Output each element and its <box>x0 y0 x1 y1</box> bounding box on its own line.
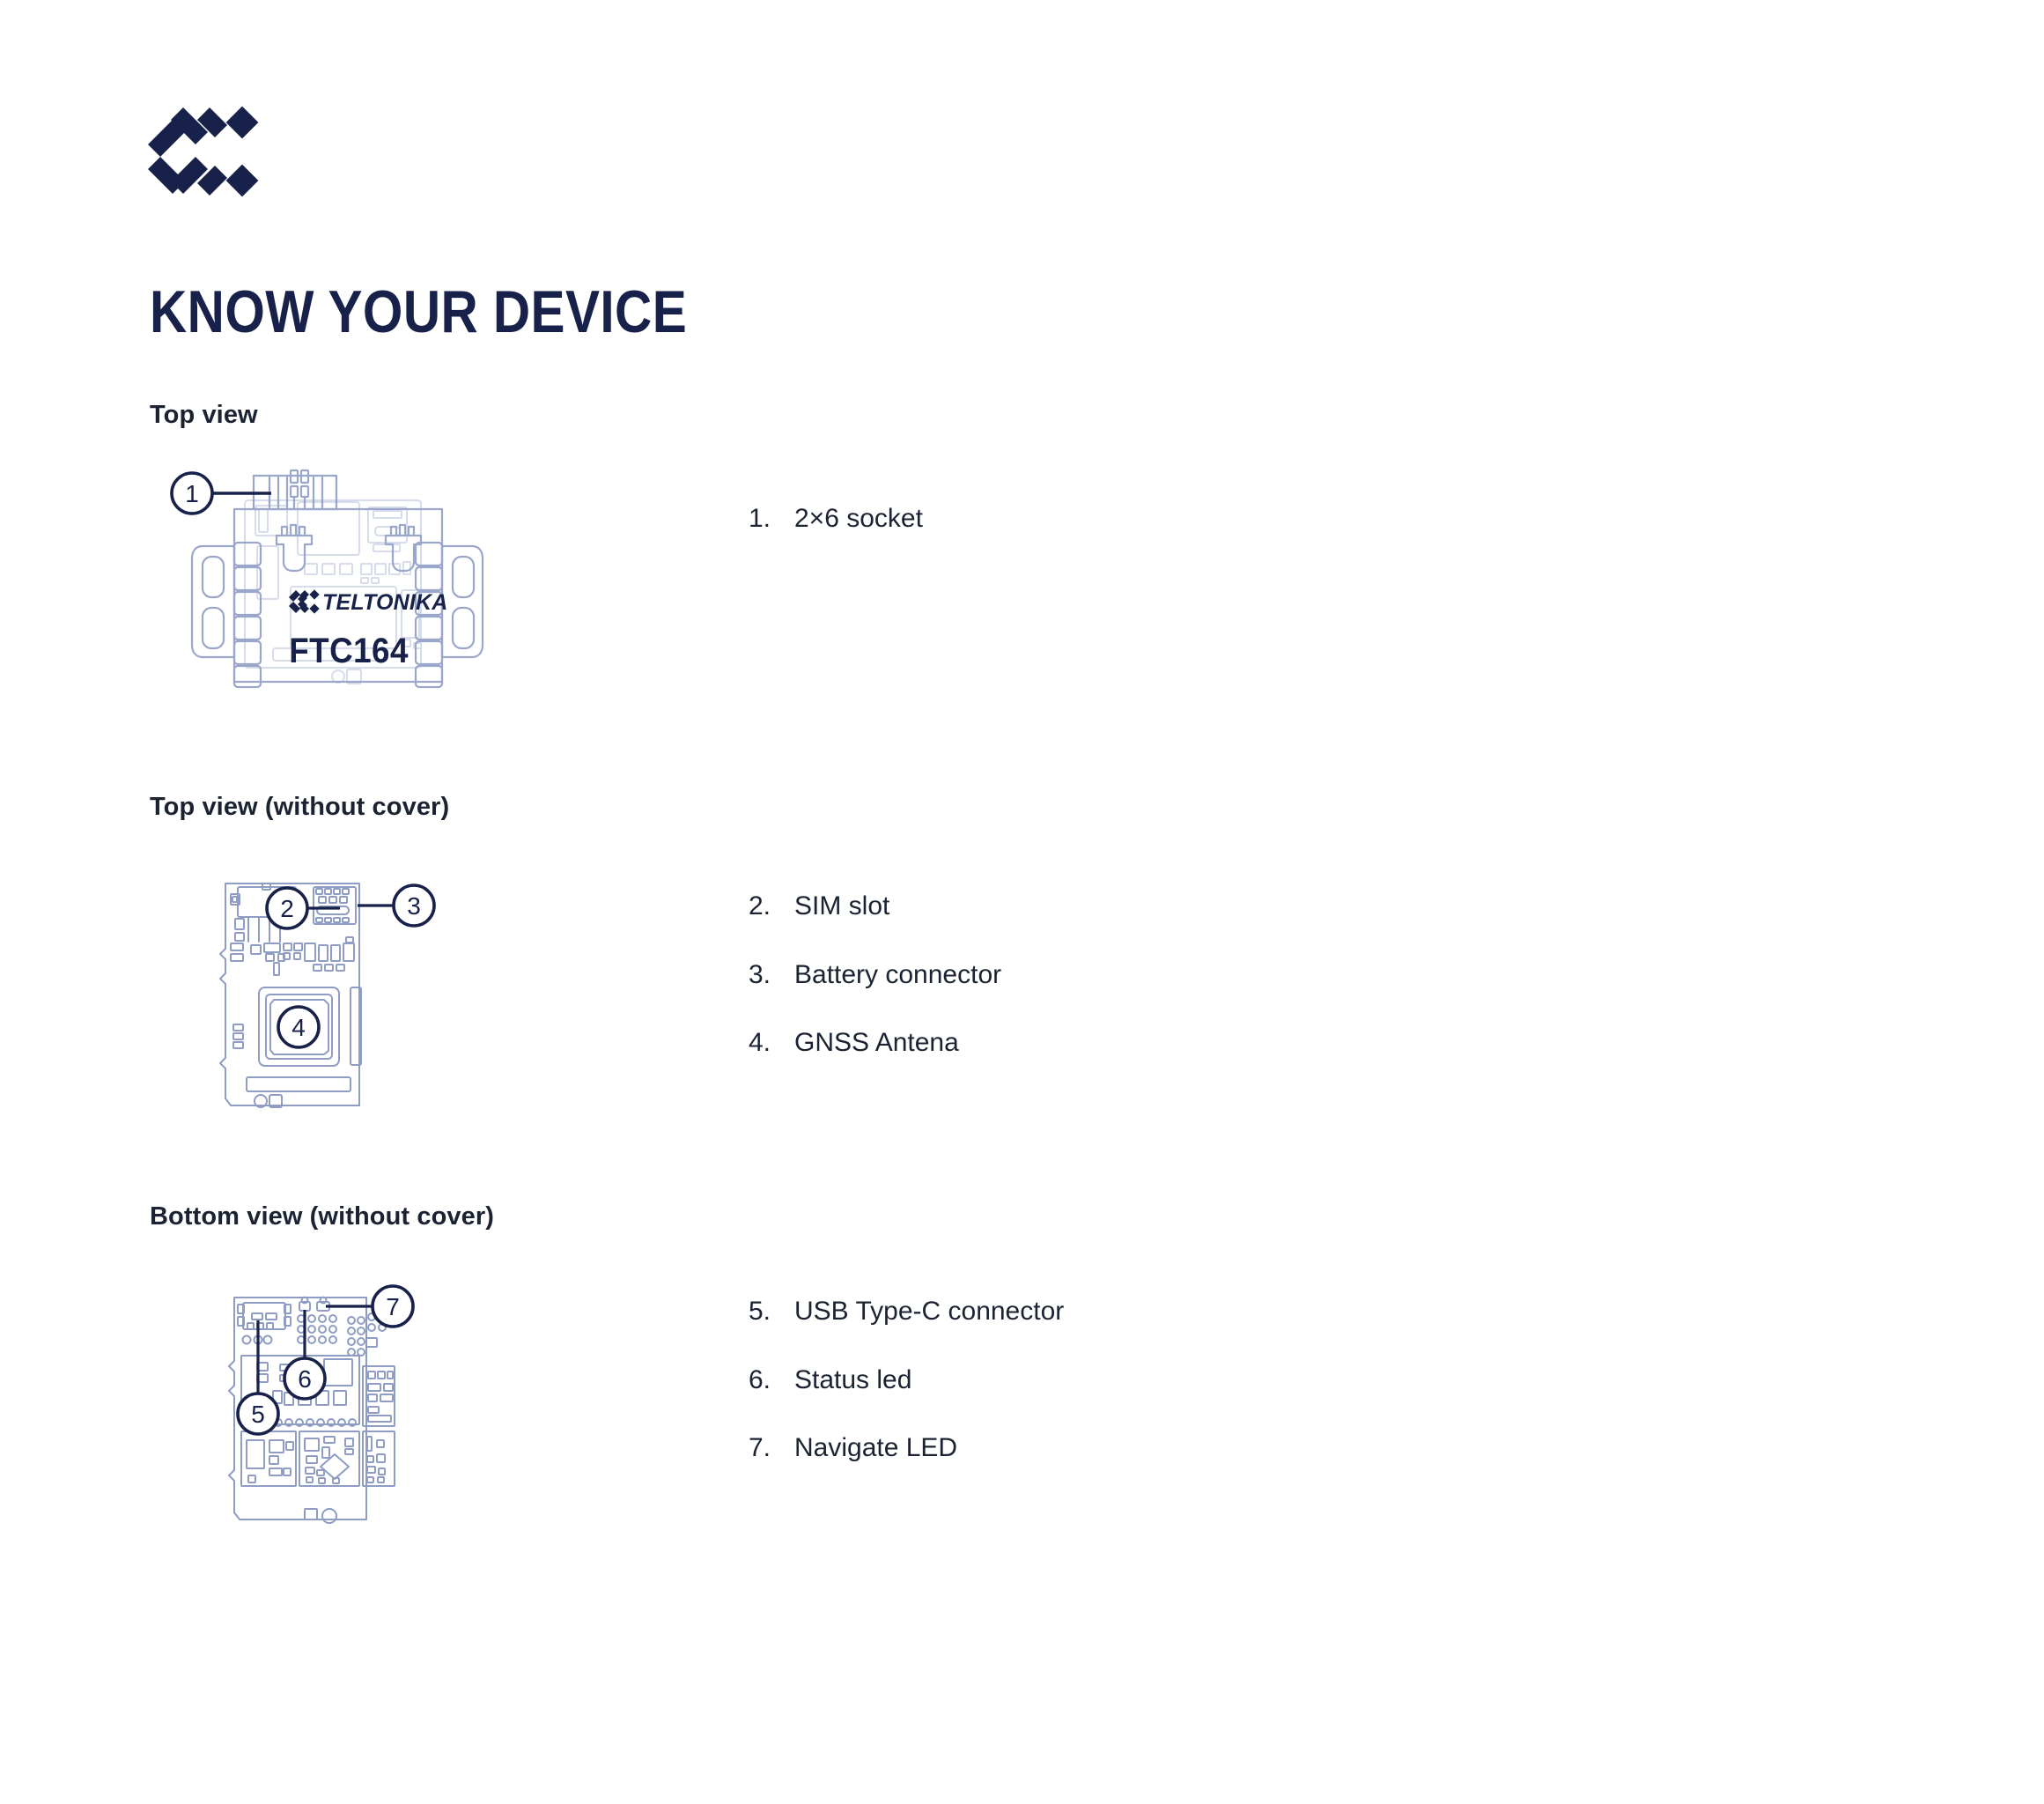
section-heading-bottom-view-without-cover: Bottom view (without cover) <box>150 1202 494 1231</box>
svg-text:2: 2 <box>280 895 294 922</box>
list-item-label: GNSS Antena <box>794 1026 959 1060</box>
teltonika-logo-icon <box>148 106 262 201</box>
svg-text:TELTONIKA: TELTONIKA <box>322 590 448 615</box>
svg-text:4: 4 <box>291 1014 306 1041</box>
svg-text:3: 3 <box>407 892 421 920</box>
callout-marker-3: 3 <box>358 885 434 926</box>
svg-text:5: 5 <box>251 1401 265 1428</box>
list-item: 2. SIM slot <box>749 890 1001 923</box>
callout-list-top-view-without-cover: 2. SIM slot 3. Battery connector 4. GNSS… <box>749 890 1001 1060</box>
list-item-label: Status led <box>794 1364 911 1397</box>
page-root: KNOW YOUR DEVICE Top view <box>0 0 2044 1804</box>
svg-text:7: 7 <box>386 1293 400 1320</box>
list-item-number: 7. <box>749 1431 794 1465</box>
list-item-number: 3. <box>749 958 794 992</box>
section-heading-top-view-without-cover: Top view (without cover) <box>150 793 449 822</box>
svg-text:FTC164: FTC164 <box>289 632 409 671</box>
list-item: 6. Status led <box>749 1364 1064 1397</box>
figure-pcb-top-view: 2 3 4 <box>150 868 502 1132</box>
list-item-label: SIM slot <box>794 890 889 923</box>
list-item: 4. GNSS Antena <box>749 1026 1001 1060</box>
device-brand-mark: TELTONIKA <box>289 589 448 615</box>
list-item: 7. Navigate LED <box>749 1431 1064 1465</box>
list-item-number: 4. <box>749 1026 794 1060</box>
list-item-label: Battery connector <box>794 958 1001 992</box>
list-item: 3. Battery connector <box>749 958 1001 992</box>
figure-device-top-view: TELTONIKA FTC164 1 <box>150 458 502 731</box>
list-item-number: 2. <box>749 890 794 923</box>
list-item-number: 6. <box>749 1364 794 1397</box>
callout-list-top-view: 1. 2×6 socket <box>749 502 923 536</box>
callout-marker-4: 4 <box>278 1007 319 1047</box>
list-item: 5. USB Type-C connector <box>749 1295 1064 1328</box>
figure-pcb-bottom-view: 7 6 5 <box>150 1282 502 1546</box>
svg-text:6: 6 <box>298 1365 312 1393</box>
section-heading-top-view: Top view <box>150 401 258 430</box>
list-item-label: 2×6 socket <box>794 502 923 536</box>
list-item-label: USB Type-C connector <box>794 1295 1064 1328</box>
page-title: KNOW YOUR DEVICE <box>150 282 687 342</box>
list-item-label: Navigate LED <box>794 1431 957 1465</box>
callout-list-bottom-view-without-cover: 5. USB Type-C connector 6. Status led 7.… <box>749 1295 1064 1465</box>
svg-text:1: 1 <box>185 480 199 507</box>
list-item: 1. 2×6 socket <box>749 502 923 536</box>
callout-marker-1: 1 <box>172 473 271 514</box>
list-item-number: 1. <box>749 502 794 536</box>
list-item-number: 5. <box>749 1295 794 1328</box>
